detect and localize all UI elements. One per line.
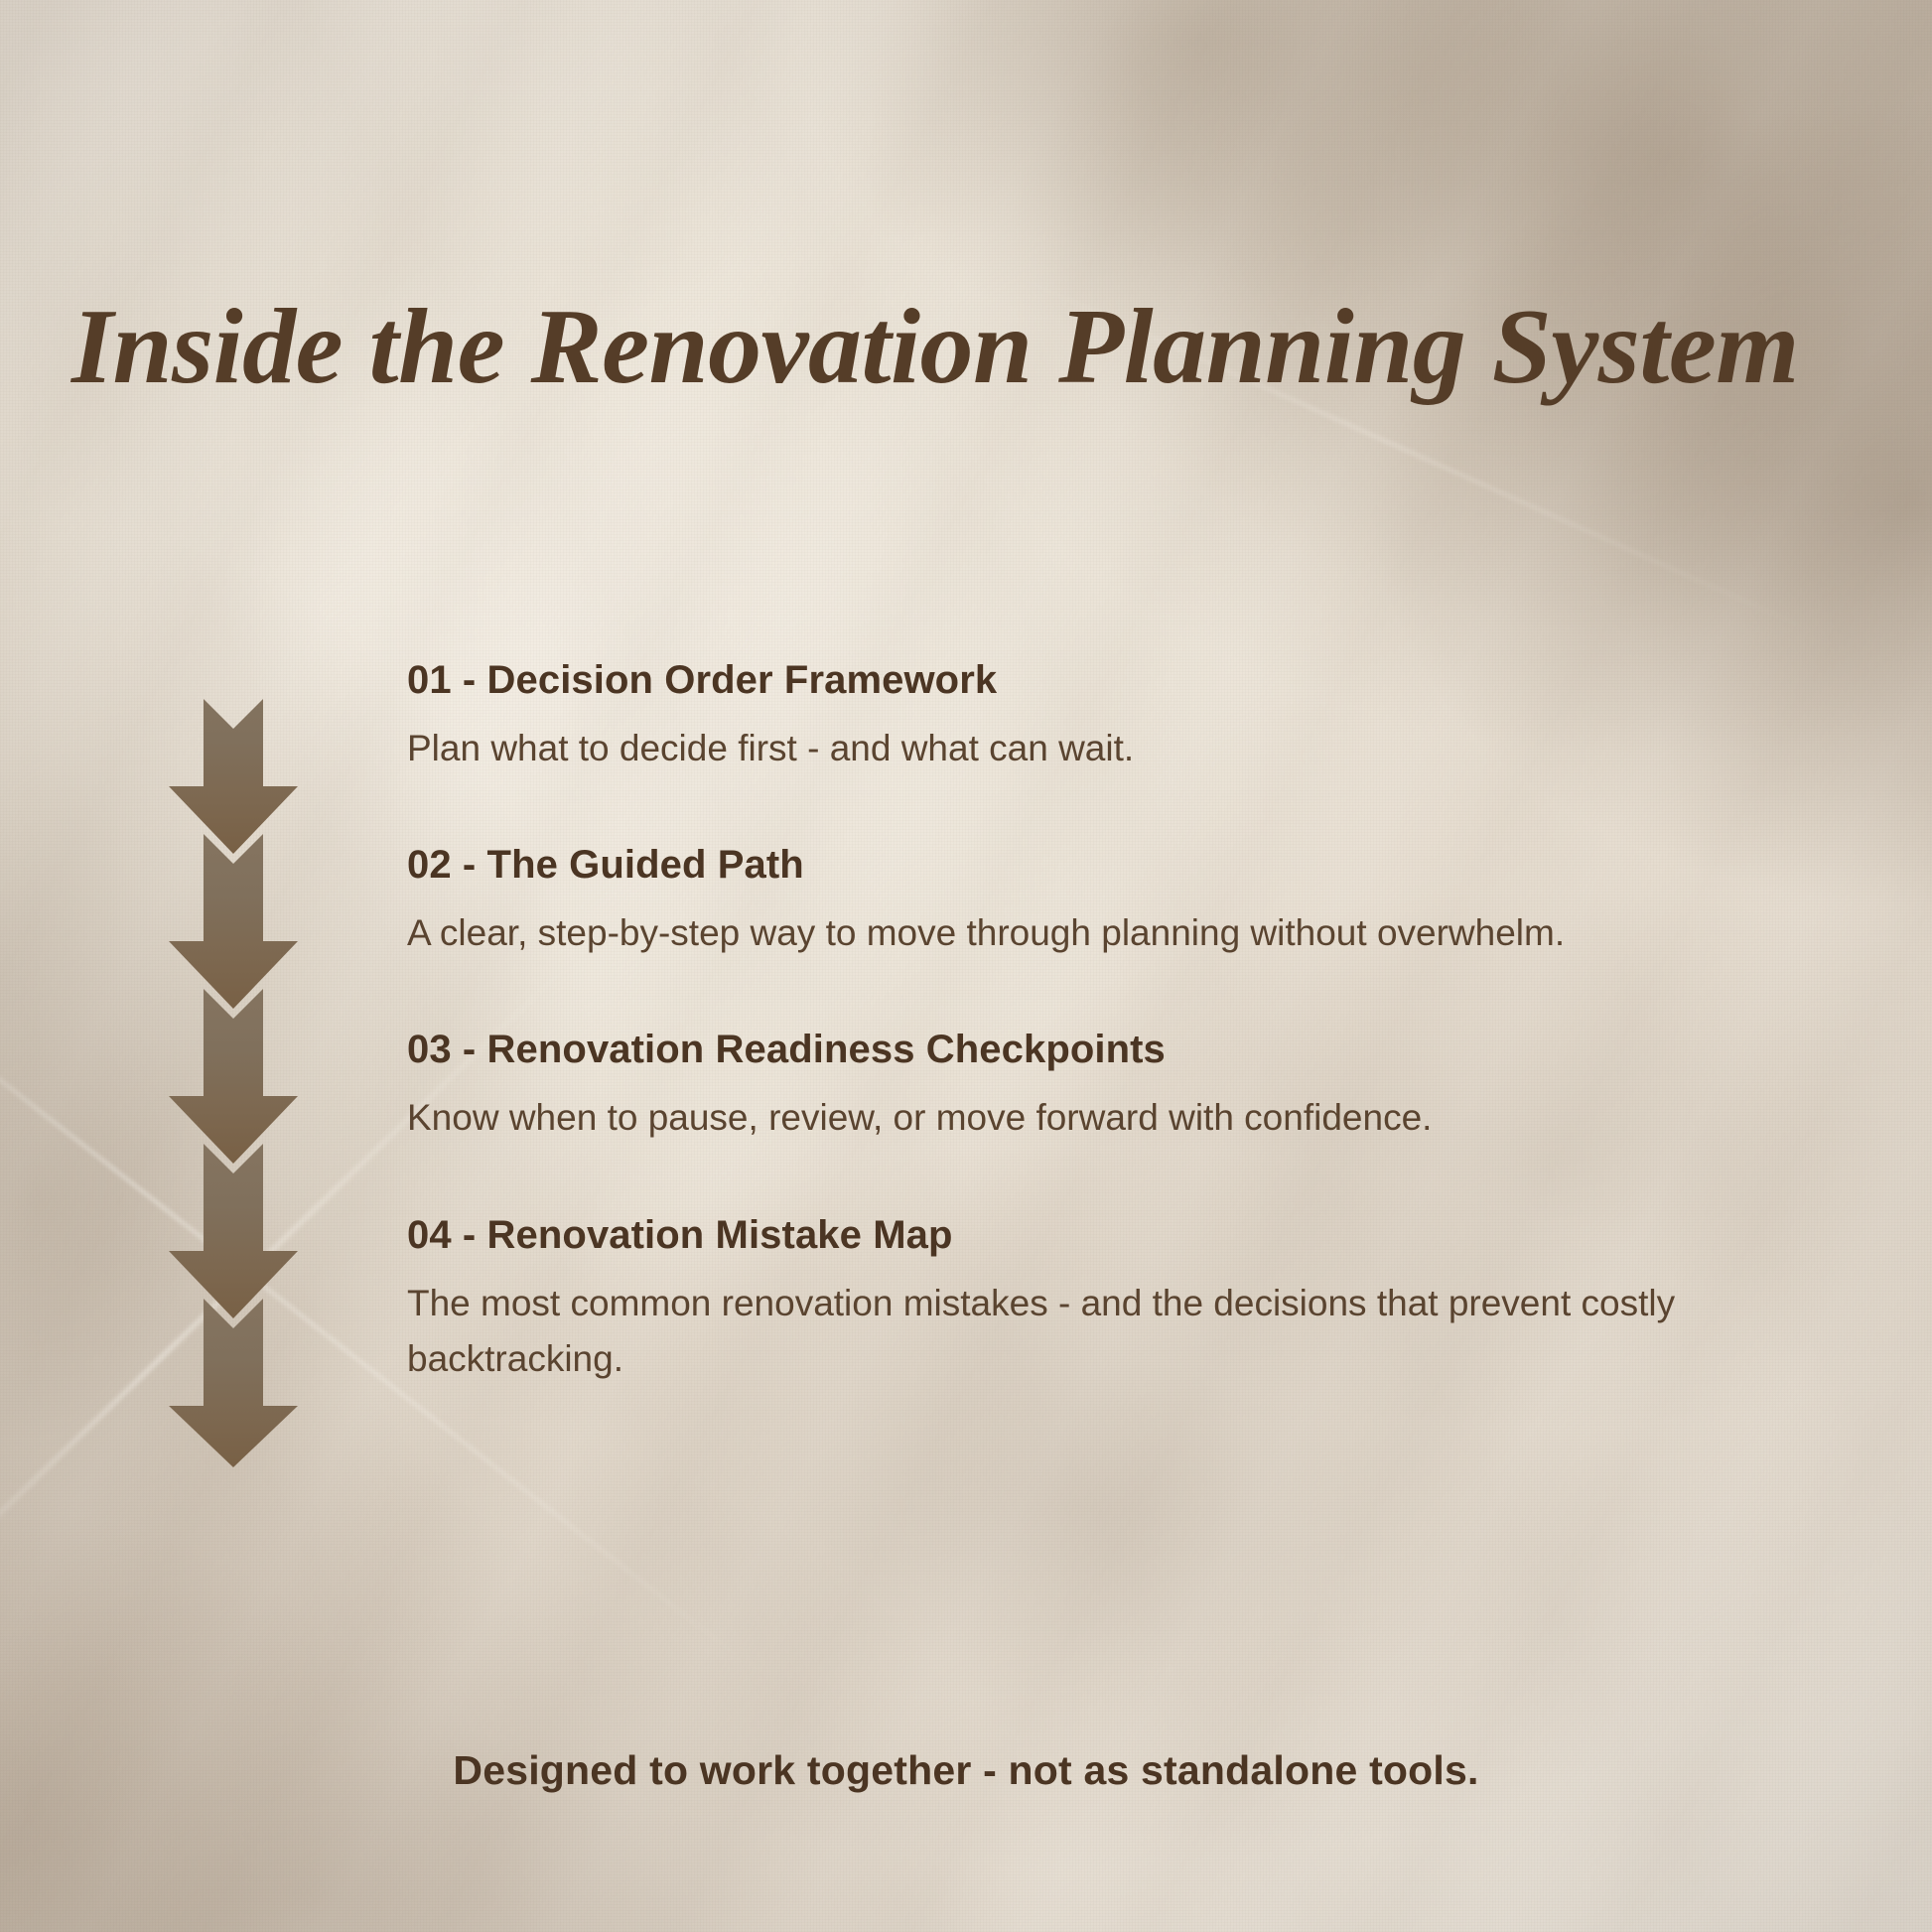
step-list: 01 - Decision Order Framework Plan what … [407,655,1817,1387]
step-heading: 04 - Renovation Mistake Map [407,1210,1817,1260]
step-heading: 02 - The Guided Path [407,840,1817,890]
step-description: A clear, step-by-step way to move throug… [407,905,1797,961]
step-description: Plan what to decide first - and what can… [407,721,1797,776]
step-description: The most common renovation mistakes - an… [407,1276,1797,1387]
list-item-step-04: 04 - Renovation Mistake Map The most com… [407,1210,1817,1387]
poster-content: Inside the Renovation Planning System [0,0,1932,1932]
downward-arrow-stack-icon [159,677,308,1471]
poster-canvas: Inside the Renovation Planning System [0,0,1932,1932]
list-item-step-02: 02 - The Guided Path A clear, step-by-st… [407,840,1817,961]
list-item-step-03: 03 - Renovation Readiness Checkpoints Kn… [407,1025,1817,1146]
step-heading: 01 - Decision Order Framework [407,655,1817,705]
step-description: Know when to pause, review, or move forw… [407,1090,1797,1146]
page-title: Inside the Renovation Planning System [71,292,1878,403]
list-item-step-01: 01 - Decision Order Framework Plan what … [407,655,1817,776]
footer-note: Designed to work together - not as stand… [0,1747,1932,1794]
step-heading: 03 - Renovation Readiness Checkpoints [407,1025,1817,1074]
